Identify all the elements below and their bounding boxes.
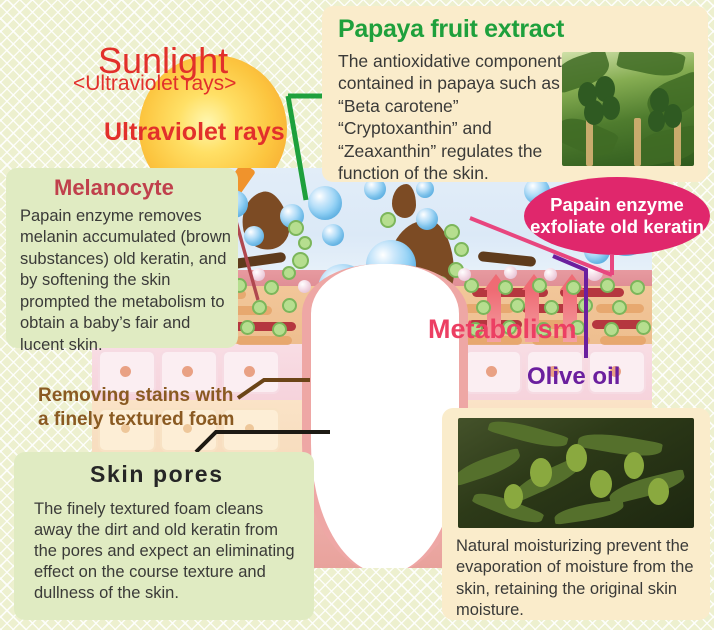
foam-bubble bbox=[244, 226, 264, 246]
enzyme-particle bbox=[636, 320, 651, 335]
enzyme-particle bbox=[600, 278, 615, 293]
enzyme-particle bbox=[282, 266, 296, 280]
enzyme-particle bbox=[510, 298, 525, 313]
sunlight-sublabel: <Ultraviolet rays> bbox=[73, 72, 236, 96]
enzyme-particle bbox=[532, 278, 547, 293]
olive-oil-body-text: Natural moisturizing prevent the evapora… bbox=[456, 536, 704, 622]
pearl-particle bbox=[458, 268, 471, 281]
keratin-brick bbox=[600, 336, 646, 345]
enzyme-particle bbox=[544, 300, 559, 315]
stains-line-2: a finely textured foam bbox=[38, 409, 234, 430]
papain-line-2: exfoliate old keratin bbox=[530, 216, 704, 237]
enzyme-particle bbox=[630, 280, 645, 295]
foam-bubble bbox=[416, 208, 438, 230]
olive-branch-photo bbox=[458, 418, 694, 528]
ultraviolet-rays-label: Ultraviolet rays bbox=[104, 118, 285, 147]
enzyme-particle bbox=[578, 298, 593, 313]
cell-nucleus bbox=[244, 366, 255, 377]
enzyme-particle bbox=[240, 320, 255, 335]
papain-badge-text: Papain enzyme exfoliate old keratin bbox=[530, 194, 704, 238]
foam-bubble bbox=[322, 224, 344, 246]
keratin-brick bbox=[236, 336, 292, 345]
enzyme-particle bbox=[444, 224, 460, 240]
papaya-body-text: The antioxidative components contained i… bbox=[338, 50, 580, 184]
skin-pores-title: Skin pores bbox=[90, 461, 224, 488]
enzyme-particle bbox=[380, 212, 396, 228]
enzyme-particle bbox=[498, 280, 513, 295]
enzyme-particle bbox=[292, 252, 309, 269]
papaya-title: Papaya fruit extract bbox=[338, 15, 564, 44]
olive-oil-label: Olive oil bbox=[527, 363, 620, 391]
enzyme-particle bbox=[264, 280, 279, 295]
enzyme-particle bbox=[612, 300, 627, 315]
papain-line-1: Papain enzyme bbox=[550, 194, 684, 215]
papain-enzyme-badge[interactable]: Papain enzyme exfoliate old keratin bbox=[524, 177, 710, 255]
enzyme-particle bbox=[272, 322, 287, 337]
melanocyte-body-text: Papain enzyme removes melanin accumulate… bbox=[20, 206, 234, 356]
pearl-particle bbox=[504, 266, 517, 279]
foam-bubble bbox=[308, 186, 342, 220]
papaya-info-card[interactable]: Papaya fruit extract The antioxidative c… bbox=[322, 6, 708, 182]
enzyme-particle bbox=[476, 300, 491, 315]
removing-stains-label: Removing stains with a finely textured f… bbox=[38, 384, 234, 432]
papaya-tree-photo bbox=[562, 52, 694, 166]
stains-line-1: Removing stains with bbox=[38, 385, 233, 406]
infographic-canvas: Sunlight <Ultraviolet rays> Ultraviolet … bbox=[0, 0, 714, 630]
dermis-nucleus bbox=[245, 424, 254, 433]
pearl-particle bbox=[544, 268, 557, 281]
olive-oil-info-card[interactable]: Natural moisturizing prevent the evapora… bbox=[442, 408, 710, 620]
skin-pores-body-text: The finely textured foam cleans away the… bbox=[34, 499, 304, 605]
cell-nucleus bbox=[120, 366, 131, 377]
skin-pores-info-card[interactable]: Skin pores The finely textured foam clea… bbox=[14, 452, 314, 620]
enzyme-particle bbox=[454, 242, 469, 257]
pearl-particle bbox=[252, 268, 265, 281]
metabolism-label: Metabolism bbox=[428, 314, 577, 345]
cell-nucleus bbox=[486, 366, 497, 377]
enzyme-particle bbox=[252, 300, 267, 315]
enzyme-particle bbox=[282, 298, 297, 313]
enzyme-particle bbox=[566, 280, 581, 295]
cell-nucleus bbox=[182, 366, 193, 377]
enzyme-particle bbox=[288, 220, 304, 236]
melanocyte-title: Melanocyte bbox=[54, 175, 174, 201]
melanocyte-info-card[interactable]: Melanocyte Papain enzyme removes melanin… bbox=[6, 168, 238, 348]
pearl-particle bbox=[586, 264, 603, 281]
enzyme-particle bbox=[604, 322, 619, 337]
melanin-blob bbox=[392, 184, 416, 218]
enzyme-particle bbox=[298, 236, 312, 250]
